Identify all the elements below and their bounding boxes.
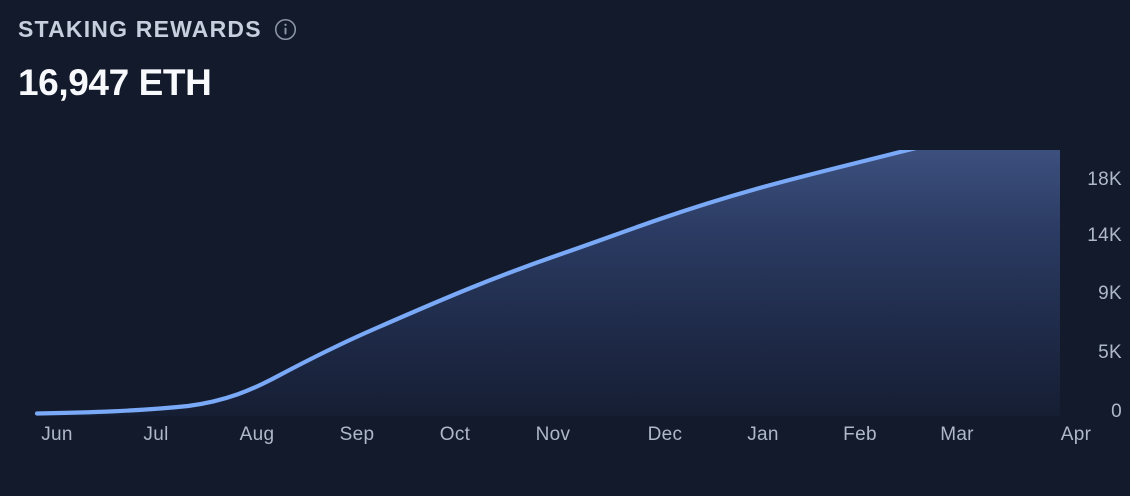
- y-tick-label: 14K: [1087, 225, 1122, 247]
- metric-value: 16,947 ETH: [18, 64, 297, 101]
- y-tick-label: 0: [1111, 401, 1122, 423]
- x-tick-label: Oct: [440, 424, 470, 446]
- x-tick-label: Feb: [843, 424, 877, 446]
- title-row: STAKING REWARDS: [18, 18, 297, 41]
- panel-header: STAKING REWARDS 16,947 ETH: [18, 18, 297, 101]
- chart-area-fill: [37, 150, 1060, 416]
- x-tick-label: Mar: [940, 424, 974, 446]
- x-tick-label: Jan: [747, 424, 779, 446]
- info-circle-icon[interactable]: [274, 18, 297, 41]
- x-tick-label: Dec: [648, 424, 683, 446]
- x-tick-label: Apr: [1061, 424, 1091, 446]
- x-axis: Jun Jul Aug Sep Oct Nov Dec Jan Feb Mar …: [0, 424, 1130, 464]
- y-tick-label: 18K: [1087, 169, 1122, 191]
- x-tick-label: Aug: [240, 424, 275, 446]
- y-tick-label: 5K: [1098, 342, 1122, 364]
- x-tick-label: Jun: [41, 424, 73, 446]
- staking-rewards-chart: 18K 14K 9K 5K 0 Jun Jul Aug Sep Oct Nov …: [0, 150, 1130, 496]
- x-tick-label: Sep: [340, 424, 375, 446]
- x-tick-label: Nov: [536, 424, 571, 446]
- x-tick-label: Jul: [143, 424, 168, 446]
- staking-rewards-panel: STAKING REWARDS 16,947 ETH: [0, 0, 1130, 496]
- y-tick-label: 9K: [1098, 283, 1122, 305]
- page-title: STAKING REWARDS: [18, 18, 262, 41]
